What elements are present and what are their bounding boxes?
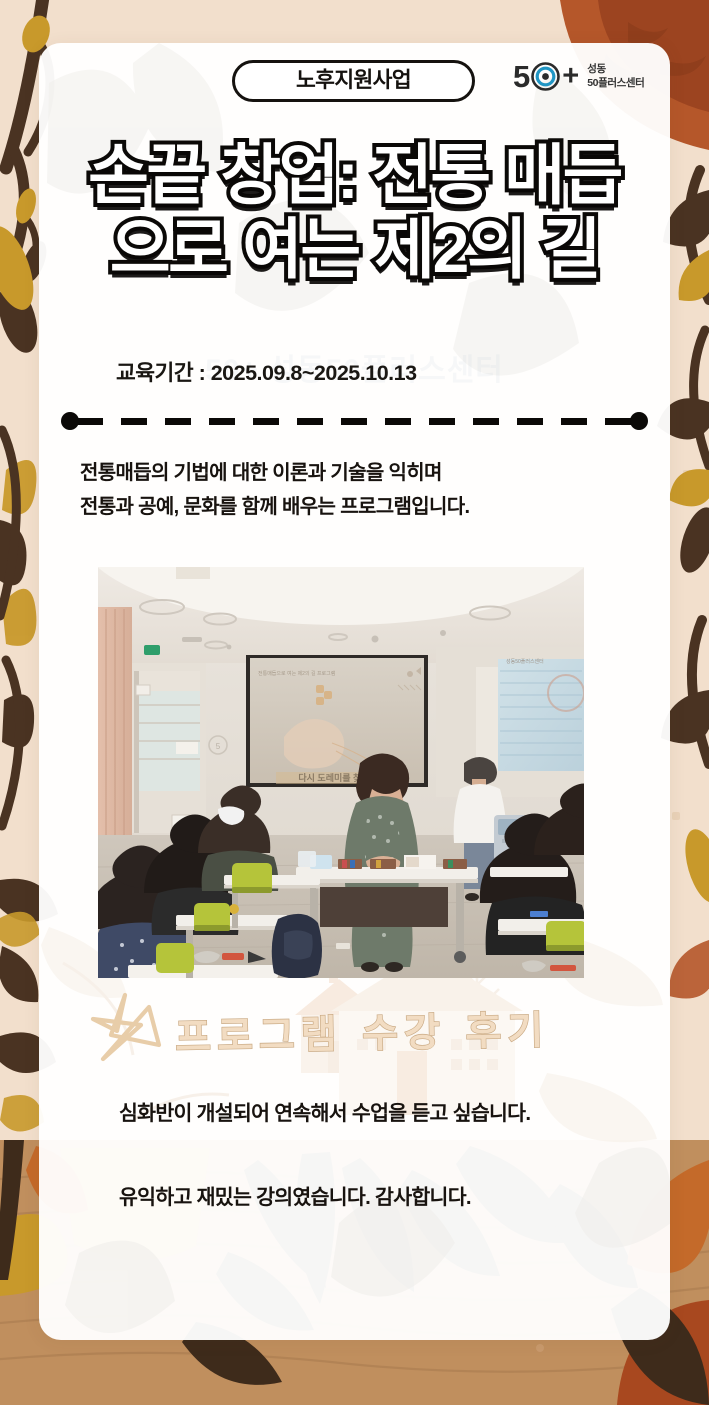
divider-dot-right [630,412,648,430]
review-list: 심화반이 개설되어 연속해서 수업을 듣고 싶습니다. 유익하고 재밌는 강의였… [119,1098,639,1215]
logo-mark: 5 + [513,61,579,92]
program-category-label: 노후지원사업 [296,70,411,92]
logo-center-line2: 50플러스센터 [587,77,644,91]
title-line-1: 손끝 창업: 전통 매듭 [39,143,670,208]
concentric-circle-icon [531,62,560,91]
review-item: 심화반이 개설되어 연속해서 수업을 듣고 싶습니다. [119,1098,604,1130]
logo-center-line1: 성동 [587,63,644,77]
star-doodle-icon [87,989,165,1067]
poster-title: 손끝 창업: 전통 매듭 으로 여는 제2의 길 [39,143,670,281]
content-card: 50+ 성동50플러스센터 노후지원사업 5 + [39,43,670,1340]
review-section-heading: 프로그램 수강 후기 [59,979,650,1075]
title-line-2: 으로 여는 제2의 길 [39,217,670,282]
logo-center-name: 성동 50플러스센터 [587,63,644,90]
program-category-badge[interactable]: 노후지원사업 [232,60,475,102]
divider-dash-line [77,418,632,426]
svg-text:5: 5 [216,742,221,751]
education-period: 교육기간 : 2025.09.8~2025.10.13 [116,356,417,387]
svg-text:성동50플러스센터: 성동50플러스센터 [506,658,544,665]
description-line-2: 전통과 공예, 문화를 함께 배우는 프로그램입니다. [80,490,469,524]
poster-header: 노후지원사업 5 + 성동 50플러스센터 [39,43,670,115]
classroom-photo: 전통매듭 수업 현장 사진 - 강사가 앞에서 설명하고 수강생들이 책상에 앉… [98,567,584,978]
review-item: 유익하고 재밌는 강의였습니다. 감사합니다. [119,1182,639,1214]
logo-digit-5: 5 [513,61,530,92]
poster-root: 50+ 성동50플러스센터 노후지원사업 5 + [0,0,709,1405]
program-description: 전통매듭의 기법에 대한 이론과 기술을 익히며 전통과 공예, 문화를 함께 … [80,456,469,525]
logo-plus-sign: + [562,62,579,91]
dashed-divider [61,410,648,432]
center-logo[interactable]: 5 + 성동 50플러스센터 [513,61,644,92]
svg-text:전통매듭으로 여는 제2의 길 프로그램: 전통매듭으로 여는 제2의 길 프로그램 [258,670,336,677]
description-line-1: 전통매듭의 기법에 대한 이론과 기술을 익히며 [80,456,469,490]
review-heading-text: 프로그램 수강 후기 [174,999,549,1062]
